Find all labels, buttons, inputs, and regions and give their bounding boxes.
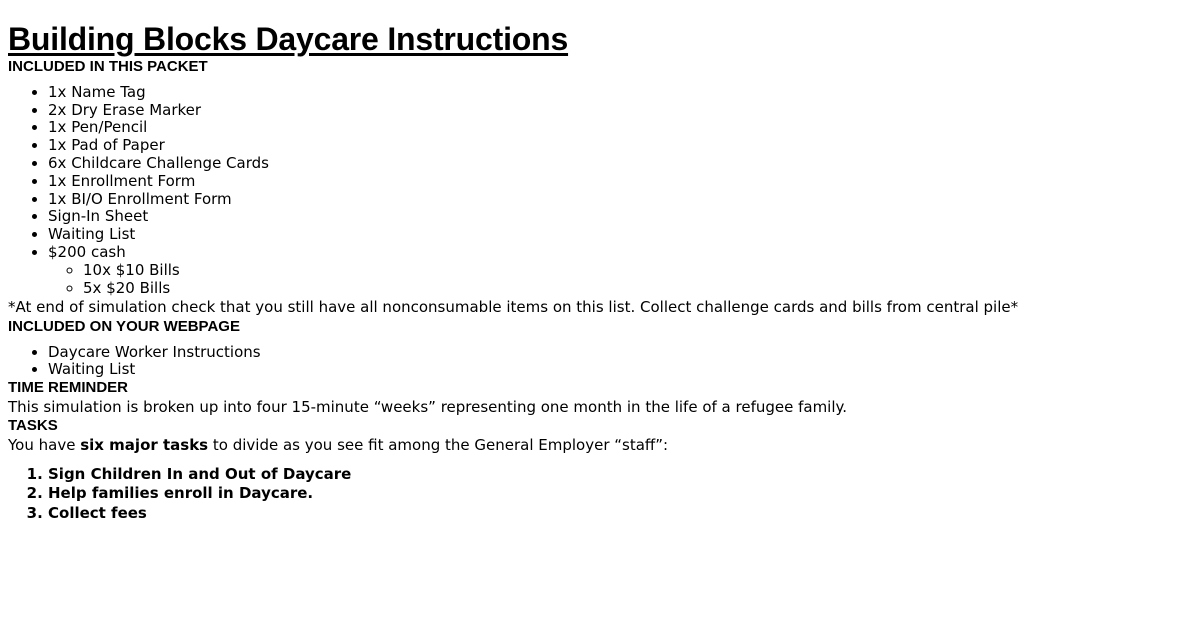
task-item: Sign Children In and Out of Daycare xyxy=(48,465,1192,485)
list-item: Daycare Worker Instructions xyxy=(48,344,1192,362)
list-item: 5x $20 Bills xyxy=(83,280,1192,298)
section-heading-included-on-webpage: INCLUDED ON YOUR WEBPAGE xyxy=(8,318,1192,336)
tasks-intro: You have six major tasks to divide as yo… xyxy=(8,435,1192,455)
major-tasks-list: Sign Children In and Out of Daycare Help… xyxy=(8,465,1192,524)
task-item: Help families enroll in Daycare. xyxy=(48,484,1192,504)
list-item: Sign-In Sheet xyxy=(48,208,1192,226)
packet-note: *At end of simulation check that you sti… xyxy=(8,297,1192,317)
cash-label: $200 cash xyxy=(48,243,126,261)
section-heading-time-reminder: TIME REMINDER xyxy=(8,379,1192,397)
section-heading-tasks: TASKS xyxy=(8,417,1192,435)
list-item: 1x Pad of Paper xyxy=(48,137,1192,155)
page-title: Building Blocks Daycare Instructions xyxy=(8,0,1192,58)
list-item: 10x $10 Bills xyxy=(83,262,1192,280)
list-item: 6x Childcare Challenge Cards xyxy=(48,155,1192,173)
list-item: 2x Dry Erase Marker xyxy=(48,102,1192,120)
time-reminder-text: This simulation is broken up into four 1… xyxy=(8,397,1192,417)
tasks-intro-emphasis: six major tasks xyxy=(80,436,208,454)
list-item: 1x BI/O Enrollment Form xyxy=(48,191,1192,209)
list-item-cash: $200 cash 10x $10 Bills 5x $20 Bills xyxy=(48,244,1192,297)
list-item: Waiting List xyxy=(48,226,1192,244)
packet-items-list: 1x Name Tag 2x Dry Erase Marker 1x Pen/P… xyxy=(8,84,1192,298)
cash-breakdown-list: 10x $10 Bills 5x $20 Bills xyxy=(48,262,1192,298)
task-item: Collect fees xyxy=(48,504,1192,524)
document-page: Building Blocks Daycare Instructions INC… xyxy=(0,0,1200,523)
webpage-items-list: Daycare Worker Instructions Waiting List xyxy=(8,344,1192,380)
list-item: 1x Enrollment Form xyxy=(48,173,1192,191)
list-item: 1x Pen/Pencil xyxy=(48,119,1192,137)
section-heading-included-in-packet: INCLUDED IN THIS PACKET xyxy=(8,58,1192,76)
tasks-intro-suffix: to divide as you see fit among the Gener… xyxy=(208,436,668,454)
list-item: Waiting List xyxy=(48,361,1192,379)
tasks-intro-prefix: You have xyxy=(8,436,80,454)
list-item: 1x Name Tag xyxy=(48,84,1192,102)
